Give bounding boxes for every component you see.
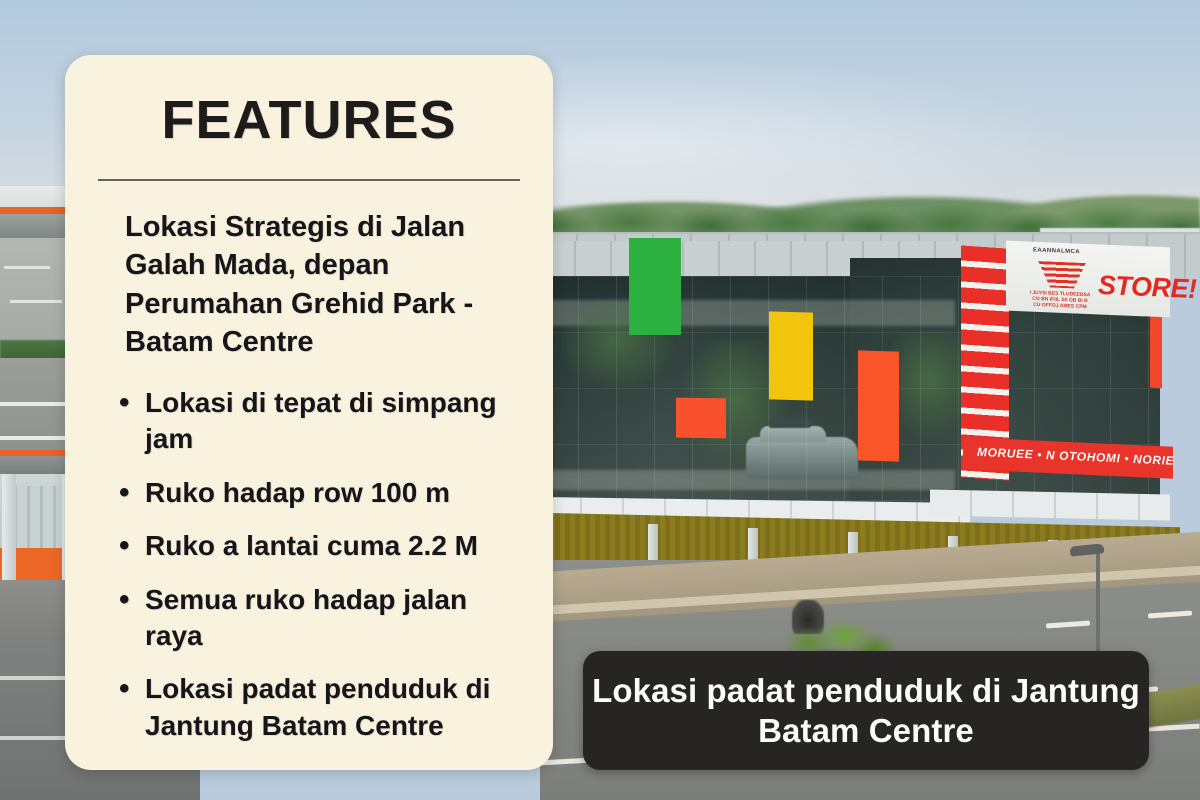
facade-panel-yellow <box>769 311 813 400</box>
facade-panel-red-small <box>676 398 726 439</box>
features-title: FEATURES <box>95 93 523 147</box>
features-bullet-list: Lokasi di tepat di simpang jam Ruko hada… <box>117 385 523 744</box>
facade-panel-red-tall <box>858 350 899 461</box>
list-item: Ruko a lantai cuma 2.2 M <box>117 528 523 564</box>
list-item: Lokasi di tepat di simpang jam <box>117 385 523 458</box>
store-word-text: STORE! <box>1098 270 1197 305</box>
list-item: Semua ruko hadap jalan raya <box>117 582 523 655</box>
store-sign-subtext: I JUYSI BES TLUDEEDSA CO BN IFIIL SII OB… <box>1029 290 1091 321</box>
caption-box: Lokasi padat penduduk di Jantung Batam C… <box>583 651 1149 770</box>
title-divider <box>98 179 520 181</box>
facade-panel-green <box>629 238 681 335</box>
building-spandrel-band-right <box>930 489 1170 520</box>
list-item: Ruko hadap row 100 m <box>117 475 523 511</box>
features-intro-text: Lokasi Strategis di Jalan Galah Mada, de… <box>125 208 525 361</box>
caption-text: Lokasi padat penduduk di Jantung Batam C… <box>583 671 1149 750</box>
list-item: Lokasi padat penduduk di Jantung Batam C… <box>117 671 523 744</box>
features-card: FEATURES Lokasi Strategis di Jalan Galah… <box>65 55 553 770</box>
store-red-banner-text: MORUEE • N OTOHOMI • NORIE <box>977 445 1174 468</box>
